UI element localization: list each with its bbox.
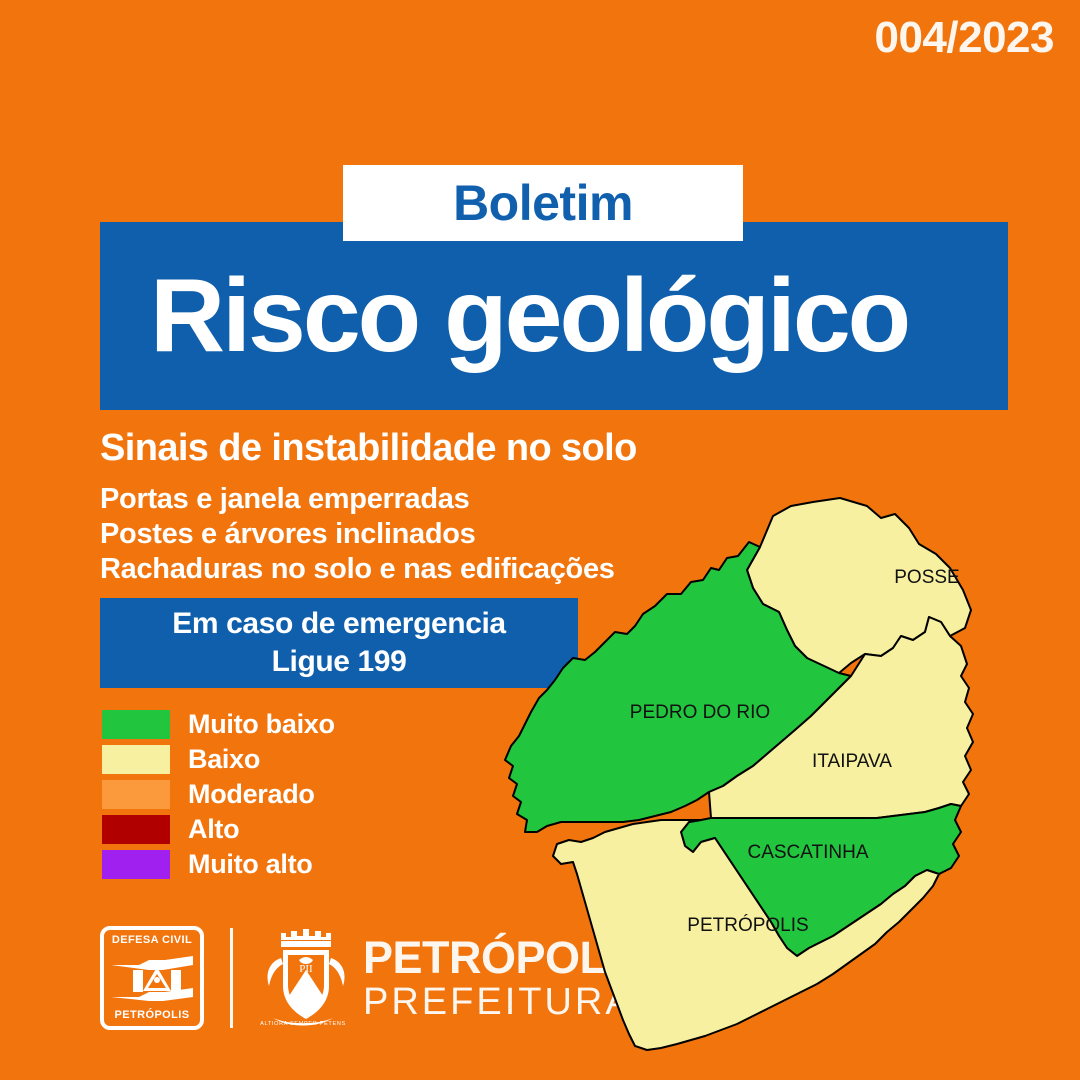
map-label-cascatinha: CASCATINHA (747, 842, 868, 863)
legend-label: Baixo (188, 744, 260, 775)
map-label-itaipava: ITAIPAVA (812, 751, 892, 772)
signs-title: Sinais de instabilidade no solo (100, 428, 637, 470)
legend-label: Alto (188, 814, 239, 845)
boletim-chip: Boletim (343, 165, 743, 241)
legend-label: Muito baixo (188, 709, 335, 740)
petropolis-coat-of-arms: PII ALTIORA SEMPER PETENS (259, 924, 347, 1032)
hands-triangle-icon (109, 951, 195, 1005)
legend-item-alto: Alto (102, 812, 335, 846)
svg-text:PII: PII (299, 963, 313, 975)
legend-swatch (102, 850, 170, 879)
poster-canvas: 004/2023 Risco geológico Boletim Sinais … (0, 0, 1080, 1080)
issue-number: 004/2023 (874, 16, 1054, 60)
crest-motto: ALTIORA SEMPER PETENS (260, 1021, 346, 1027)
page-title: Risco geológico (150, 264, 908, 368)
legend-swatch (102, 745, 170, 774)
civil-defense-bottom-label: PETRÓPOLIS (115, 1010, 190, 1021)
legend-item-muito-baixo: Muito baixo (102, 707, 335, 741)
footer-divider (230, 928, 233, 1028)
risk-map: POSSE PEDRO DO RIO ITAIPAVA CASCATINHA P… (495, 470, 1075, 1060)
boletim-label: Boletim (453, 178, 633, 228)
map-label-petropolis: PETRÓPOLIS (687, 914, 808, 936)
civil-defense-top-label: DEFESA CIVIL (112, 935, 192, 946)
legend-item-baixo: Baixo (102, 742, 335, 776)
legend-swatch (102, 815, 170, 844)
map-label-posse: POSSE (894, 567, 959, 588)
civil-defense-logo: DEFESA CIVIL PETRÓPOLIS (100, 926, 204, 1030)
legend-item-moderado: Moderado (102, 777, 335, 811)
emergency-line-1: Em caso de emergencia (172, 605, 505, 643)
map-label-pedro-do-rio: PEDRO DO RIO (630, 702, 770, 723)
legend-swatch (102, 780, 170, 809)
headline-banner: Risco geológico (100, 222, 1008, 410)
emergency-line-2: Ligue 199 (272, 643, 407, 681)
legend-label: Muito alto (188, 849, 312, 880)
legend-swatch (102, 710, 170, 739)
legend-label: Moderado (188, 779, 315, 810)
risk-legend: Muito baixo Baixo Moderado Alto Muito al… (102, 707, 335, 882)
legend-item-muito-alto: Muito alto (102, 847, 335, 881)
